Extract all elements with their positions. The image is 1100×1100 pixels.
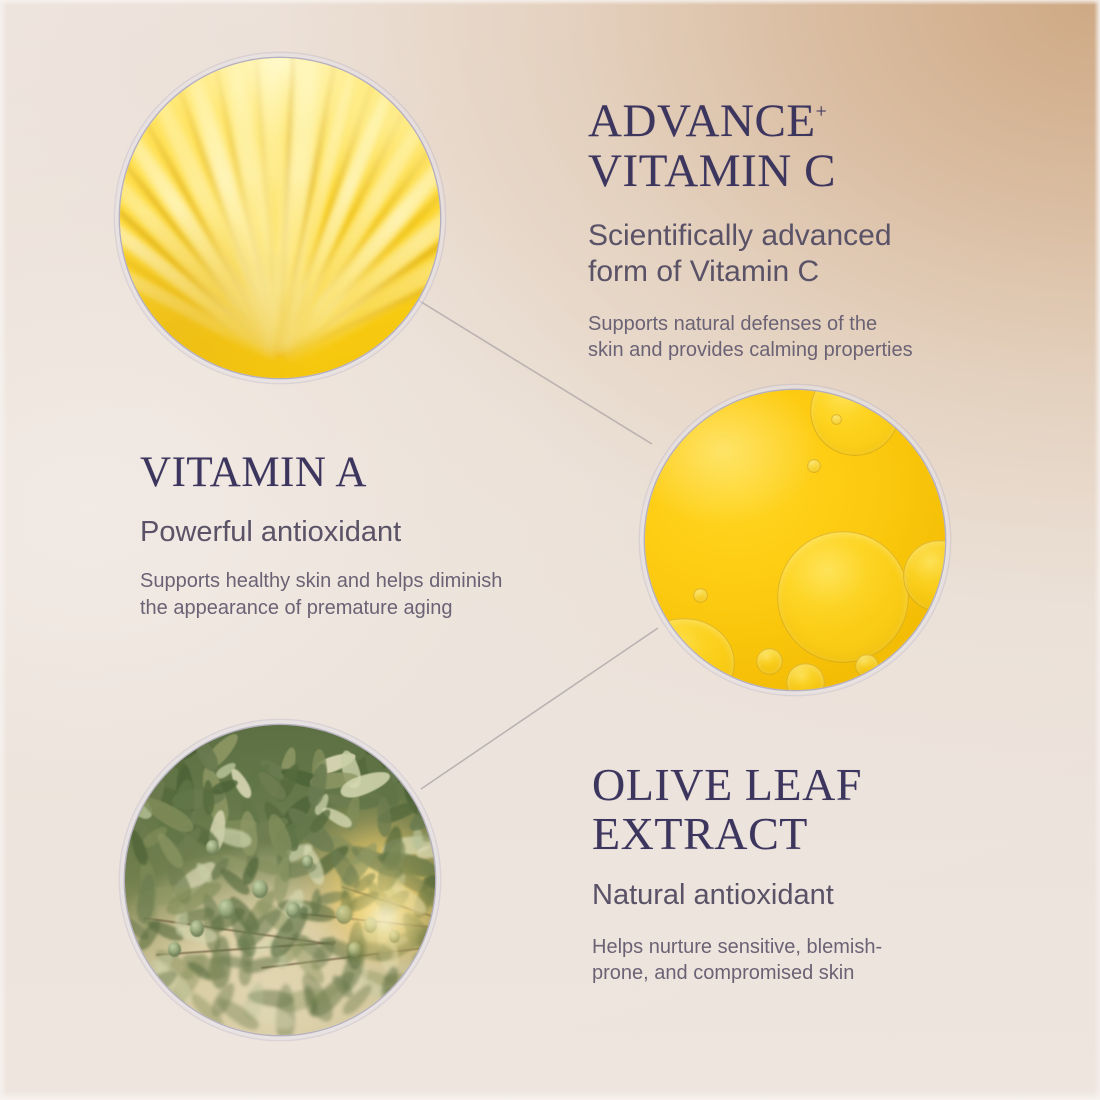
subhead-olive-line1: Natural antioxidant: [592, 879, 834, 911]
body-vitamin-c-line1: Supports natural defenses of the: [588, 313, 877, 335]
frame-edge-top: [0, 0, 1100, 5]
heading-vitamin-c-line1: ADVANCE: [588, 95, 816, 147]
heading-vitamin-c: ADVANCE+ VITAMIN C: [588, 96, 988, 197]
olive-soft-overlay: [125, 725, 435, 1035]
subhead-vitamin-c-line2: form of Vitamin C: [588, 255, 819, 288]
body-vitamin-a-line1: Supports healthy skin and helps diminish: [140, 570, 502, 592]
subhead-vitamin-a-line1: Powerful antioxidant: [140, 516, 401, 548]
subhead-olive-leaf-extract: Natural antioxidant: [592, 878, 992, 913]
frame-edge-left: [0, 0, 7, 1100]
subhead-vitamin-a: Powerful antioxidant: [140, 515, 590, 550]
body-olive-line2: prone, and compromised skin: [592, 962, 854, 984]
image-circle-golden-oil: [645, 390, 945, 690]
subhead-vitamin-c-line1: Scientifically advanced: [588, 219, 892, 252]
heading-vitamin-c-plus: +: [816, 100, 827, 122]
frame-edge-right: [1094, 0, 1100, 1100]
heading-olive-line2: EXTRACT: [592, 808, 808, 859]
oil-gloss-highlight: [645, 390, 945, 690]
petal-photo: [120, 58, 440, 378]
text-block-olive-leaf-extract: OLIVE LEAF EXTRACT Natural antioxidant H…: [592, 760, 992, 987]
image-circle-olive-branch: [125, 725, 435, 1035]
body-vitamin-a: Supports healthy skin and helps diminish…: [140, 568, 590, 621]
petal-shading: [120, 58, 440, 378]
olive-photo: [125, 725, 435, 1035]
heading-vitamin-a: VITAMIN A: [140, 450, 590, 496]
text-block-vitamin-c: ADVANCE+ VITAMIN C Scientifically advanc…: [588, 96, 988, 364]
ingredient-infographic: ADVANCE+ VITAMIN C Scientifically advanc…: [0, 0, 1100, 1100]
body-vitamin-c-line2: skin and provides calming properties: [588, 339, 913, 361]
body-vitamin-a-line2: the appearance of premature aging: [140, 597, 452, 619]
frame-edge-bottom: [0, 1091, 1100, 1100]
heading-vitamin-a-line1: VITAMIN A: [140, 449, 367, 496]
subhead-vitamin-c: Scientifically advanced form of Vitamin …: [588, 218, 988, 291]
heading-olive-leaf-extract: OLIVE LEAF EXTRACT: [592, 760, 992, 858]
body-olive-line1: Helps nurture sensitive, blemish-: [592, 936, 882, 958]
body-olive-leaf-extract: Helps nurture sensitive, blemish- prone,…: [592, 934, 992, 987]
heading-olive-line1: OLIVE LEAF: [592, 759, 862, 810]
heading-vitamin-c-line2: VITAMIN C: [588, 145, 836, 197]
oil-photo: [645, 390, 945, 690]
body-vitamin-c: Supports natural defenses of the skin an…: [588, 311, 988, 364]
image-circle-yellow-petals: [120, 58, 440, 378]
text-block-vitamin-a: VITAMIN A Powerful antioxidant Supports …: [140, 450, 590, 621]
